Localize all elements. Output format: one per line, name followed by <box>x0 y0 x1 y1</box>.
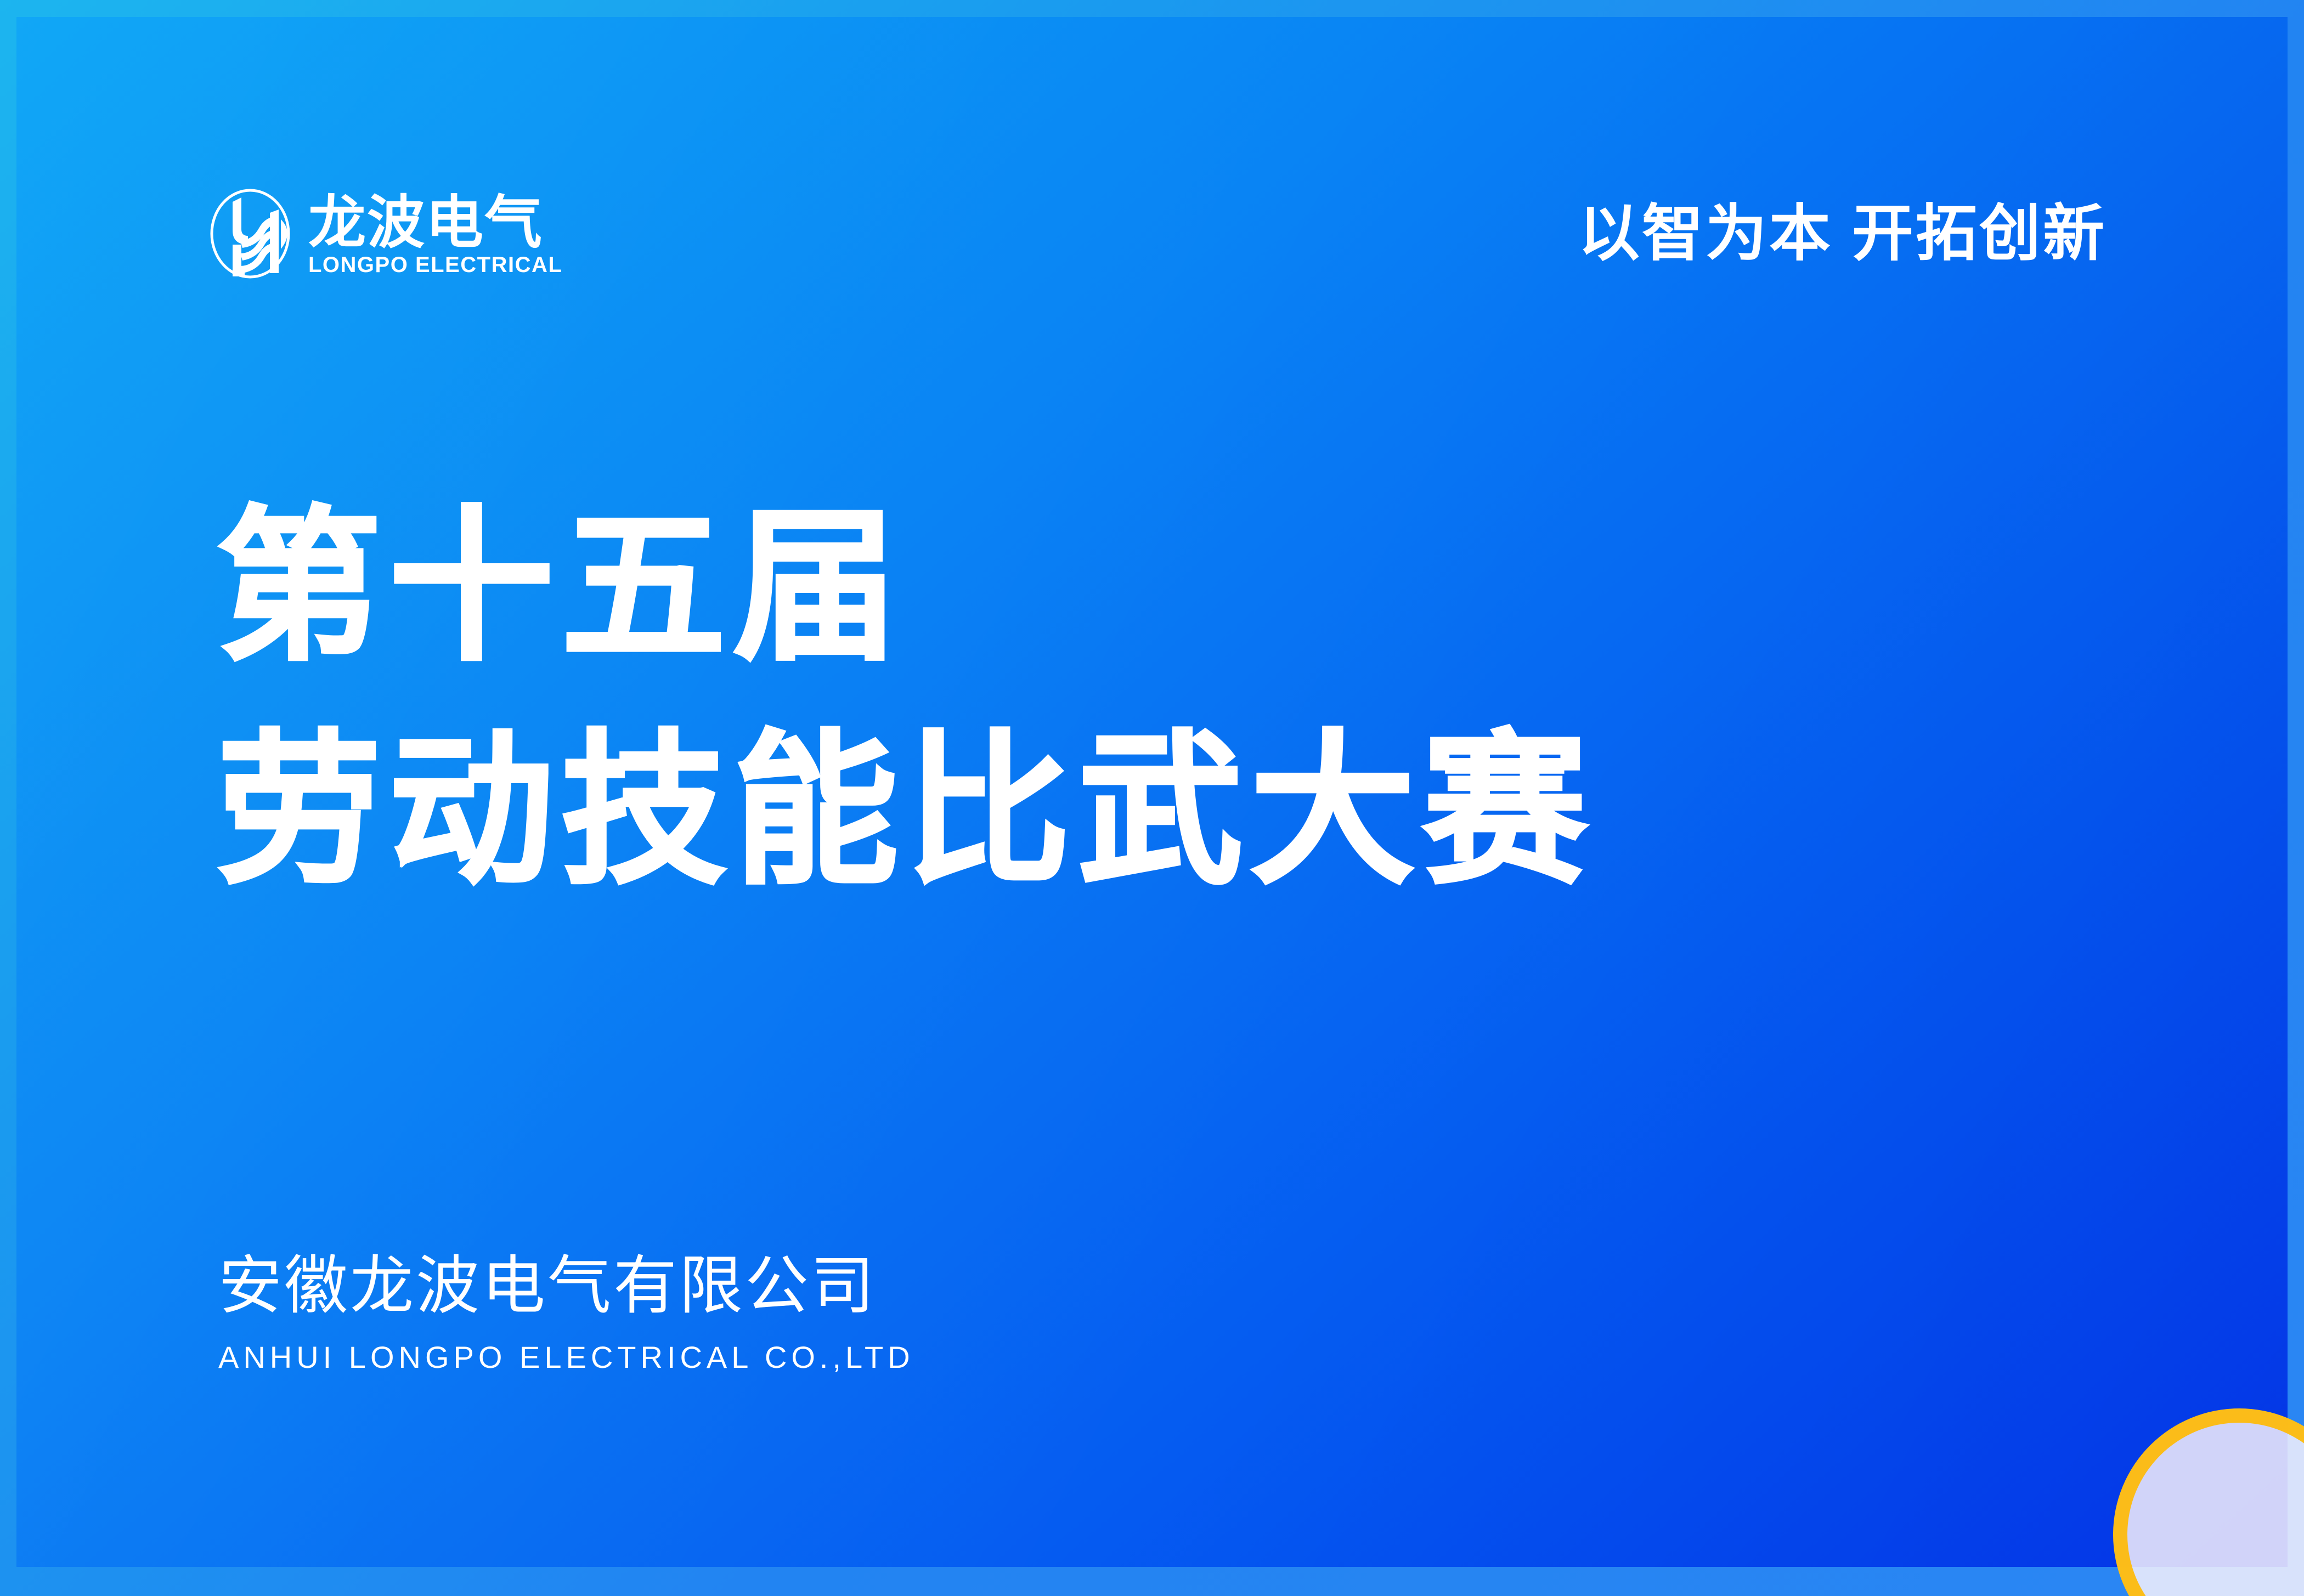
title-line-1: 第十五届 <box>217 475 2137 699</box>
brand-name-en: LONGPO ELECTRICAL <box>308 254 562 276</box>
poster-header: 龙波电气 LONGPO ELECTRICAL 以智为本 开拓创新 <box>208 182 2107 286</box>
longpo-wave-circle-logo-icon <box>208 188 292 280</box>
brand-wordmark: 龙波电气 LONGPO ELECTRICAL <box>308 192 562 276</box>
poster-canvas: 龙波电气 LONGPO ELECTRICAL 以智为本 开拓创新 第十五届 劳动… <box>0 0 2304 1596</box>
company-name-cn: 安徽龙波电气有限公司 <box>218 1248 914 1323</box>
poster-inner-panel: 龙波电气 LONGPO ELECTRICAL 以智为本 开拓创新 第十五届 劳动… <box>16 17 2288 1567</box>
company-name-en: ANHUI LONGPO ELECTRICAL CO.,LTD <box>218 1339 914 1376</box>
company-footer: 安徽龙波电气有限公司 ANHUI LONGPO ELECTRICAL CO.,L… <box>218 1248 914 1376</box>
brand-name-cn: 龙波电气 <box>308 194 562 252</box>
company-slogan: 以智为本 开拓创新 <box>1578 203 2107 264</box>
title-line-2: 劳动技能比武大赛 <box>217 699 2137 922</box>
brand-lockup: 龙波电气 LONGPO ELECTRICAL <box>208 188 562 280</box>
page-title: 第十五届 劳动技能比武大赛 <box>217 475 2137 922</box>
